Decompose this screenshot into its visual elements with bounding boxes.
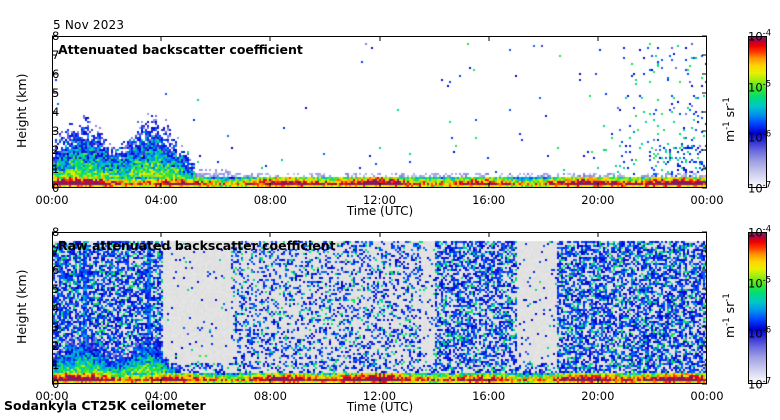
ytick-mark bbox=[52, 289, 57, 290]
ytick-mark-right bbox=[702, 270, 707, 271]
raw-attenuated-backscatter-heatmap bbox=[53, 233, 706, 383]
ytick-mark-right bbox=[702, 150, 707, 151]
ytick-mark bbox=[52, 308, 57, 309]
ytick-mark bbox=[52, 112, 57, 113]
ytick-mark-right bbox=[702, 289, 707, 290]
ytick-mark-right bbox=[702, 169, 707, 170]
xtick-mark bbox=[488, 379, 489, 384]
date-label: 5 Nov 2023 bbox=[53, 18, 124, 32]
ytick-mark bbox=[52, 55, 57, 56]
xtick-label: 00:00 bbox=[690, 389, 723, 403]
ytick-mark-right bbox=[702, 232, 707, 233]
xtick-mark bbox=[597, 183, 598, 188]
xtick-mark-top bbox=[488, 36, 489, 41]
panel1-title: Attenuated backscatter coefficient bbox=[58, 42, 303, 57]
ytick-mark bbox=[52, 327, 57, 328]
colorbar-top bbox=[748, 36, 767, 188]
ytick-mark bbox=[52, 36, 57, 37]
xtick-mark bbox=[597, 379, 598, 384]
ytick-mark bbox=[52, 384, 57, 385]
colorbar-bottom bbox=[748, 232, 767, 384]
xtick-label: 00:00 bbox=[35, 193, 68, 207]
ytick-mark-right bbox=[702, 346, 707, 347]
ytick-mark bbox=[52, 188, 57, 189]
ytick-mark-right bbox=[702, 112, 707, 113]
colorbar-bottom-label: m-1 sr-1 bbox=[722, 293, 737, 338]
ytick-mark bbox=[52, 270, 57, 271]
footer-caption: Sodankyla CT25K ceilometer bbox=[4, 398, 206, 413]
panel2-ylabel: Height (km) bbox=[14, 270, 29, 344]
panel2-xlabel: Time (UTC) bbox=[280, 400, 480, 414]
xtick-mark-top bbox=[270, 232, 271, 237]
ytick-mark-right bbox=[702, 74, 707, 75]
ytick-mark bbox=[52, 232, 57, 233]
xtick-mark bbox=[270, 379, 271, 384]
ceilometer-figure: 5 Nov 2023 Attenuated backscatter coeffi… bbox=[0, 0, 780, 420]
ytick-mark-right bbox=[702, 384, 707, 385]
ytick-mark-right bbox=[702, 131, 707, 132]
ytick-mark-right bbox=[702, 188, 707, 189]
xtick-mark-top bbox=[597, 232, 598, 237]
xtick-mark-top bbox=[379, 36, 380, 41]
ytick-mark bbox=[52, 74, 57, 75]
xtick-mark-top bbox=[161, 36, 162, 41]
ytick-mark-right bbox=[702, 308, 707, 309]
ytick-mark-right bbox=[702, 93, 707, 94]
panel-attenuated-backscatter bbox=[52, 36, 707, 188]
xtick-mark-top bbox=[161, 232, 162, 237]
colorbar-top-label: m-1 sr-1 bbox=[722, 97, 737, 142]
xtick-label: 00:00 bbox=[690, 193, 723, 207]
ytick-mark-right bbox=[702, 327, 707, 328]
ytick-mark bbox=[52, 251, 57, 252]
xtick-mark bbox=[270, 183, 271, 188]
ytick-mark-right bbox=[702, 365, 707, 366]
ytick-mark bbox=[52, 93, 57, 94]
ytick-mark bbox=[52, 346, 57, 347]
ytick-mark-right bbox=[702, 55, 707, 56]
ytick-mark-right bbox=[702, 251, 707, 252]
ytick-mark-right bbox=[702, 36, 707, 37]
xtick-label: 20:00 bbox=[581, 389, 614, 403]
xtick-mark bbox=[161, 183, 162, 188]
panel1-xlabel: Time (UTC) bbox=[280, 204, 480, 218]
colorbar-top-gradient bbox=[749, 37, 766, 187]
attenuated-backscatter-heatmap bbox=[53, 37, 706, 187]
panel1-ylabel: Height (km) bbox=[14, 74, 29, 148]
panel2-title: Raw attenuated backscatter coefficient bbox=[58, 238, 336, 253]
xtick-mark-top bbox=[597, 36, 598, 41]
xtick-mark bbox=[161, 379, 162, 384]
colorbar-bottom-gradient bbox=[749, 233, 766, 383]
xtick-label: 04:00 bbox=[145, 193, 178, 207]
xtick-mark-top bbox=[270, 36, 271, 41]
xtick-mark bbox=[488, 183, 489, 188]
xtick-mark bbox=[379, 183, 380, 188]
panel-raw-attenuated-backscatter bbox=[52, 232, 707, 384]
ytick-mark bbox=[52, 169, 57, 170]
ytick-mark bbox=[52, 150, 57, 151]
ytick-mark bbox=[52, 365, 57, 366]
xtick-mark bbox=[379, 379, 380, 384]
xtick-mark-top bbox=[379, 232, 380, 237]
xtick-mark-top bbox=[488, 232, 489, 237]
ytick-mark bbox=[52, 131, 57, 132]
xtick-label: 20:00 bbox=[581, 193, 614, 207]
